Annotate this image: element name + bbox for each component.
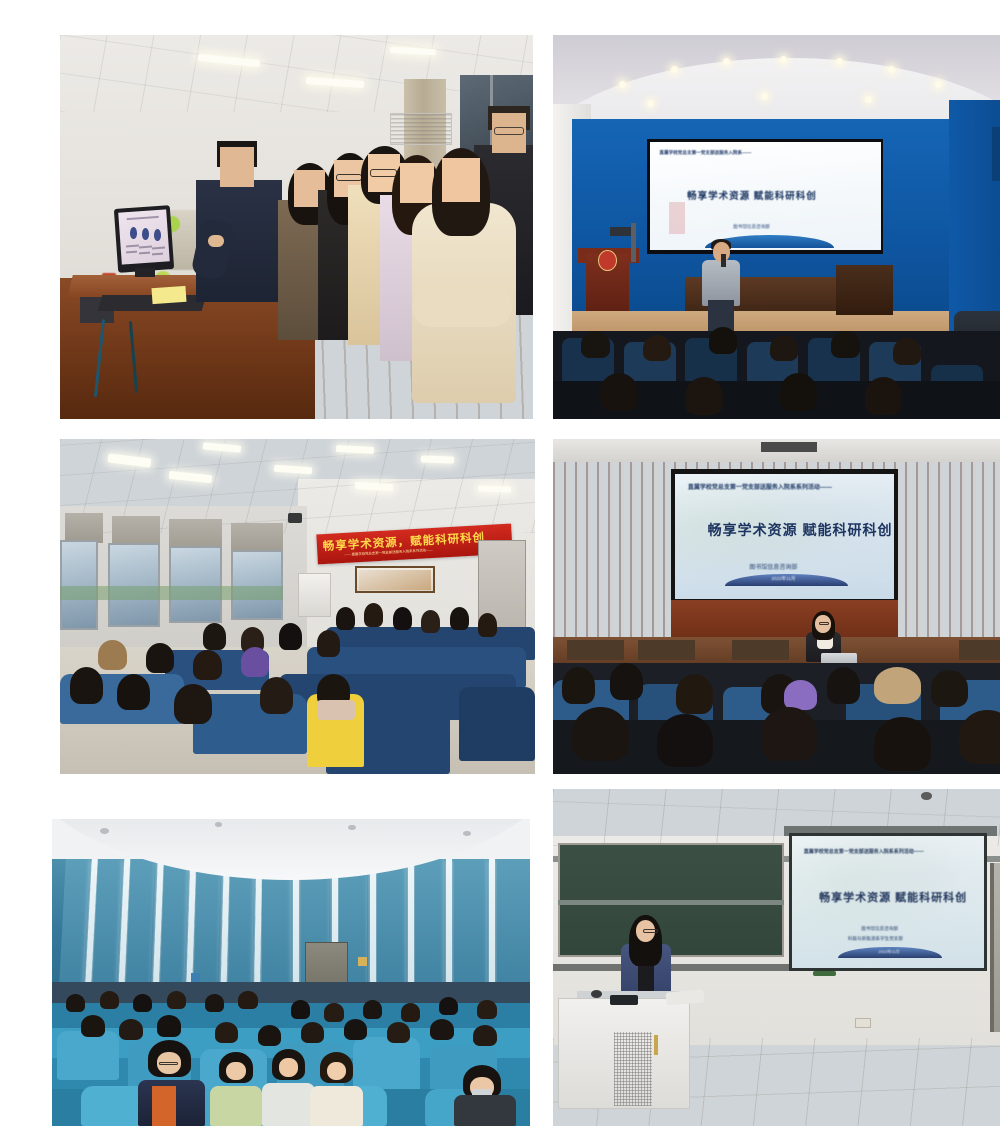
photo-classroom-banner[interactable]: 畅享学术资源，赋能科研科创 ——直属学校党总支第一党支部送服务入院系系列活动—— xyxy=(60,439,535,774)
projector-slide-6: 直属学校党总支第一党支部送服务入院系系列活动—— 畅享学术资源 赋能科研科创 图… xyxy=(792,836,984,967)
slide4-header: 直属学校党总支第一党支部送服务入院系系列活动—— xyxy=(688,482,832,491)
projector-slide-4: 直属学校党总支第一党支部送服务入院系系列活动—— 畅享学术资源 赋能科研科创 图… xyxy=(675,474,894,599)
slide2-header: 直属学校党总支第一党支部送服务入院系—— xyxy=(659,150,751,156)
scene-classroom-banner: 畅享学术资源，赋能科研科创 ——直属学校党总支第一党支部送服务入院系系列活动—— xyxy=(60,439,535,774)
slide6-title: 畅享学术资源 赋能科研科创 xyxy=(819,889,967,905)
slide6-header: 直属学校党总支第一党支部送服务入院系系列活动—— xyxy=(804,848,924,855)
scene-wood-hall: 直属学校党总支第一党支部送服务入院系系列活动—— 畅享学术资源 赋能科研科创 图… xyxy=(553,439,1000,774)
slide4-subtitle: 图书馆信息咨询部 xyxy=(749,562,797,571)
slide4-date: 2022年11月 xyxy=(771,576,795,582)
scene-curved-auditorium xyxy=(52,819,530,1126)
photo-curved-auditorium[interactable]: 弧形蓝色墙面大礼堂内学生满座认真听讲 xyxy=(52,819,530,1126)
slide6-subtitle: 图书馆信息咨询部 xyxy=(861,926,898,932)
scene-blue-auditorium: 直属学校党总支第一党支部送服务入院系—— 畅享学术资源 赋能科研科创 图书馆信息… xyxy=(553,35,1000,419)
photo-classroom-projector[interactable]: 直属学校党总支第一党支部送服务入院系系列活动—— 畅享学术资源 赋能科研科创 图… xyxy=(553,789,1000,1126)
photo-wood-hall[interactable]: 直属学校党总支第一党支部送服务入院系系列活动—— 畅享学术资源 赋能科研科创 图… xyxy=(553,439,1000,774)
projector-slide-2: 直属学校党总支第一党支部送服务入院系—— 畅享学术资源 赋能科研科创 图书馆信息… xyxy=(650,142,880,250)
photo-office-demo[interactable]: 办公室内工作人员向教师演示图书馆资源检索系统 xyxy=(60,35,533,419)
slide2-subtitle: 图书馆信息咨询部 xyxy=(733,224,770,230)
slide6-date: 2022年11月 xyxy=(879,949,900,955)
scene-classroom-projector: 直属学校党总支第一党支部送服务入院系系列活动—— 畅享学术资源 赋能科研科创 图… xyxy=(553,789,1000,1126)
slide4-title: 畅享学术资源 赋能科研科创 xyxy=(708,520,893,540)
slide6-subtitle2: 科能与新能源系学生党支部 xyxy=(848,936,903,942)
scene-office xyxy=(60,35,533,419)
photo-blue-auditorium[interactable]: 直属学校党总支第一党支部送服务入院系—— 畅享学术资源 赋能科研科创 图书馆信息… xyxy=(553,35,1000,419)
photo-gallery: 办公室内工作人员向教师演示图书馆资源检索系统 直属学校党总支第一党支部送服务入院… xyxy=(0,0,1000,1145)
slide2-title: 畅享学术资源 赋能科研科创 xyxy=(687,188,817,202)
